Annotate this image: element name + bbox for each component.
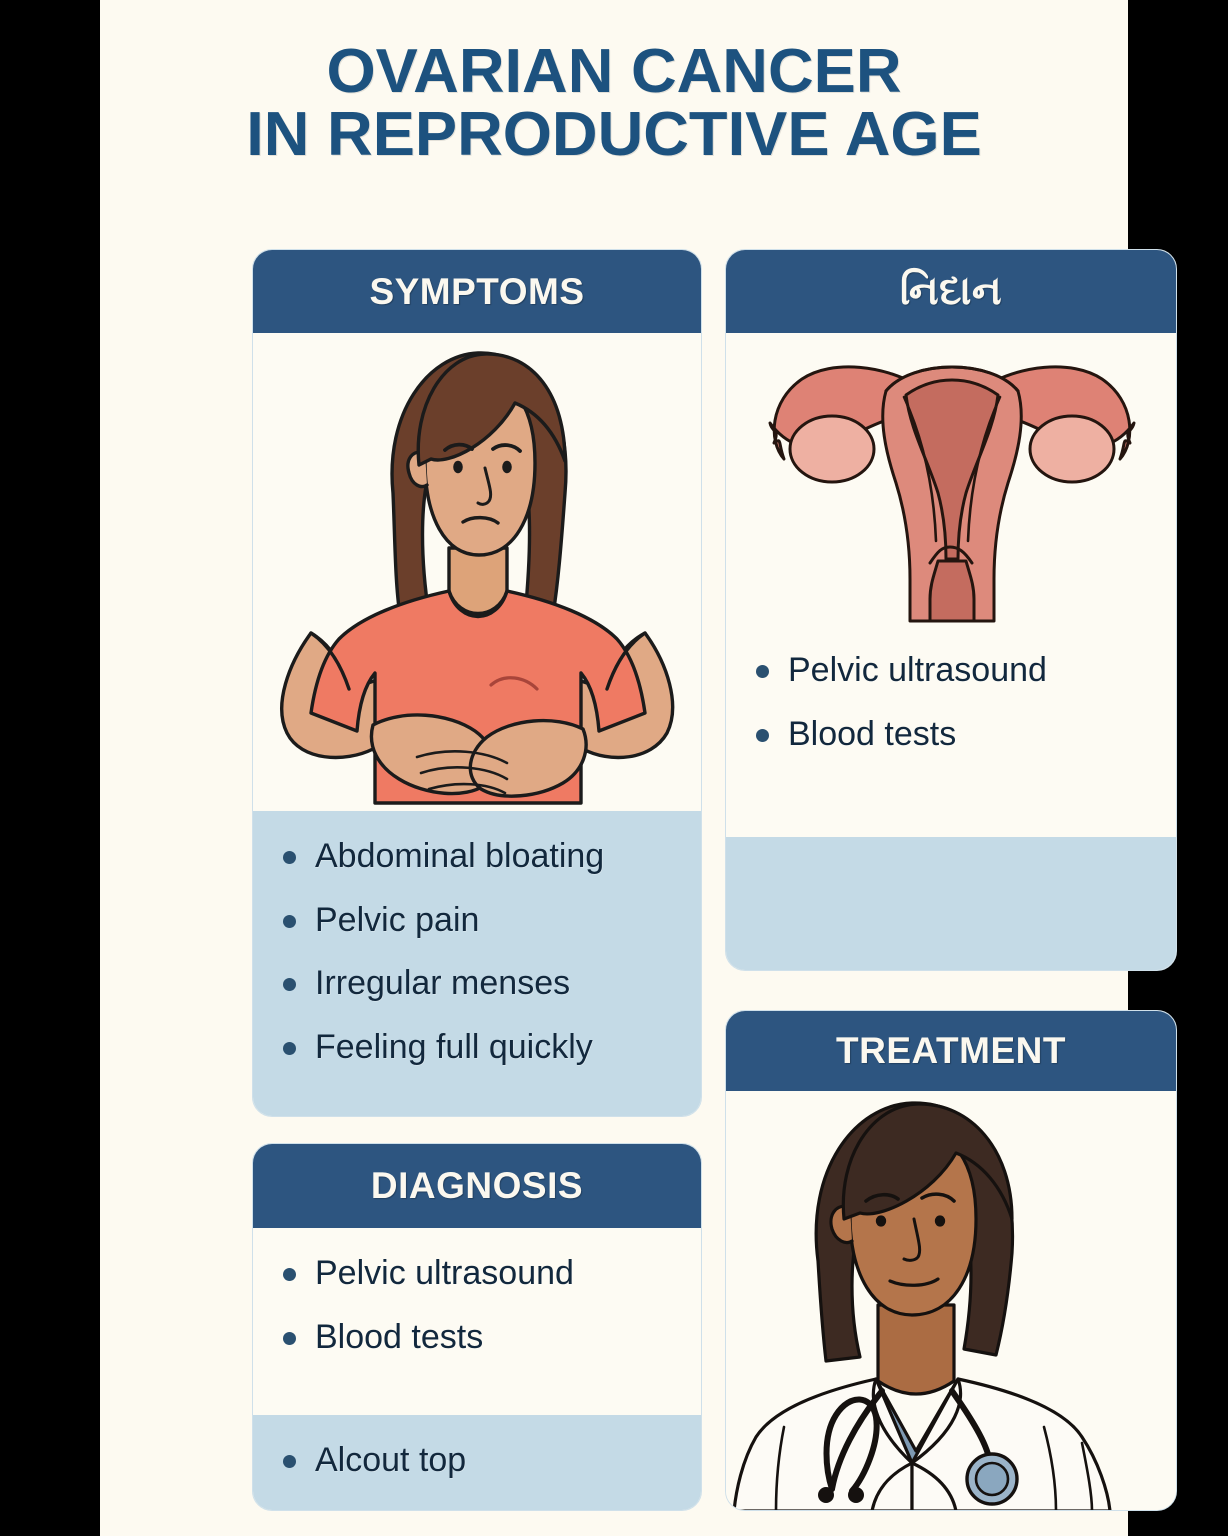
card-symptoms-title: SYMPTOMS [369,271,584,313]
list-item-label: Blood tests [788,713,956,757]
card-nidan: નિદાન [725,249,1177,971]
page-title: OVARIAN CANCER IN REPRODUCTIVE AGE [100,40,1128,166]
uterus-ovaries-anatomy-diagram [726,333,1176,625]
list-item-label: Alcout top [315,1439,466,1483]
bullet-dot-icon [283,1455,296,1468]
symptoms-bullet-panel: Abdominal bloating Pelvic pain Irregular… [253,811,701,1116]
card-diagnosis: DIAGNOSIS Pelvic ultrasound Blood tests … [252,1143,702,1511]
card-diagnosis-title: DIAGNOSIS [371,1165,583,1207]
card-diagnosis-header: DIAGNOSIS [253,1144,701,1228]
bullet-dot-icon [283,915,296,928]
list-item-label: Pelvic ultrasound [788,649,1047,693]
infographic-poster: OVARIAN CANCER IN REPRODUCTIVE AGE SYMPT… [100,0,1128,1536]
nidan-bullet-list: Pelvic ultrasound Blood tests [726,625,1176,780]
list-item-label: Feeling full quickly [315,1026,593,1070]
list-item: Alcout top [283,1429,701,1493]
bullet-dot-icon [283,1268,296,1281]
woman-holding-abdomen-illustration [253,333,701,811]
list-item: Irregular menses [283,952,701,1016]
list-item-label: Irregular menses [315,962,570,1006]
bullet-dot-icon [756,665,769,678]
diagnosis-bullet-list-blue: Alcout top [253,1415,701,1507]
bullet-dot-icon [756,729,769,742]
nidan-bullet-panel: Pelvic ultrasound Blood tests [726,625,1176,837]
title-line-2: IN REPRODUCTIVE AGE [90,103,1139,166]
diagnosis-bullet-list-cream: Pelvic ultrasound Blood tests [253,1228,701,1383]
card-treatment: TREATMENT [725,1010,1177,1511]
list-item: Pelvic pain [283,889,701,953]
bullet-dot-icon [283,851,296,864]
list-item-label: Pelvic ultrasound [315,1252,574,1296]
list-item-label: Blood tests [315,1316,483,1360]
list-item: Feeling full quickly [283,1016,701,1080]
card-treatment-header: TREATMENT [726,1011,1176,1091]
list-item: Abdominal bloating [283,825,701,889]
diagnosis-bullet-panel-cream: Pelvic ultrasound Blood tests [253,1228,701,1415]
nidan-empty-blue-panel [726,837,1176,970]
list-item: Pelvic ultrasound [756,639,1176,703]
list-item-label: Abdominal bloating [315,835,604,879]
bullet-dot-icon [283,1042,296,1055]
list-item: Pelvic ultrasound [283,1242,701,1306]
female-doctor-with-stethoscope-illustration [726,1091,1176,1511]
list-item: Blood tests [756,703,1176,767]
diagnosis-bullet-panel-blue: Alcout top [253,1415,701,1511]
card-symptoms-header: SYMPTOMS [253,250,701,333]
symptoms-bullet-list: Abdominal bloating Pelvic pain Irregular… [253,811,701,1093]
card-nidan-header: નિદાન [726,250,1176,333]
title-line-1: OVARIAN CANCER [90,40,1139,103]
card-treatment-title: TREATMENT [836,1030,1066,1072]
card-nidan-title: નિદાન [900,269,1002,314]
list-item: Blood tests [283,1306,701,1370]
bullet-dot-icon [283,1332,296,1345]
card-symptoms: SYMPTOMS [252,249,702,1117]
bullet-dot-icon [283,978,296,991]
list-item-label: Pelvic pain [315,899,479,943]
